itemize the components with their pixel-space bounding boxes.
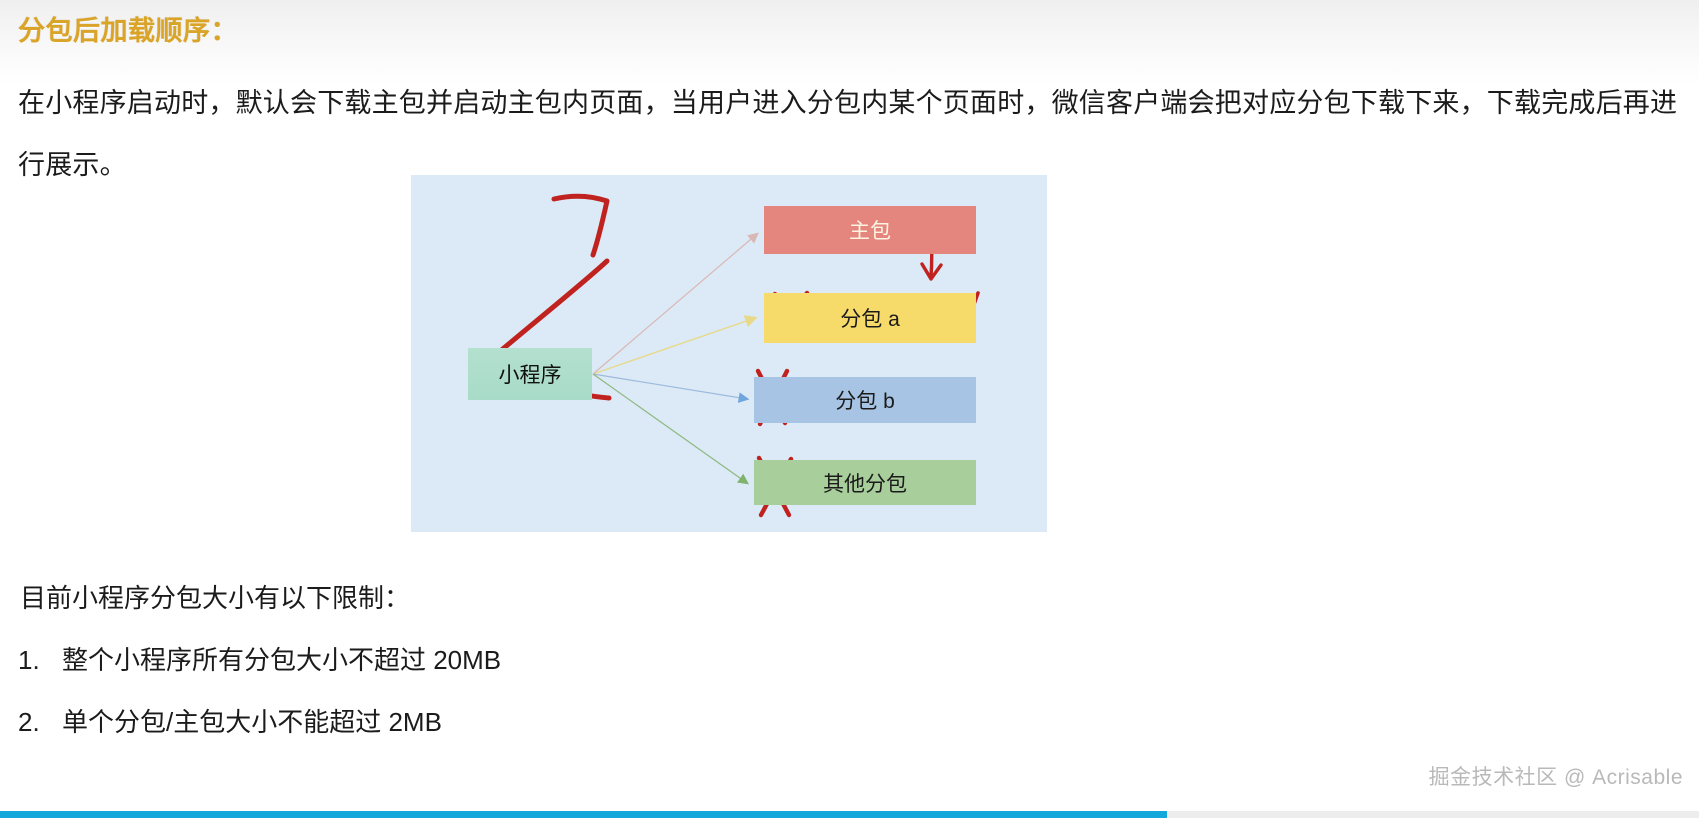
package-loading-diagram: 小程序 主包 分包 a 分包 b 其他分包 (411, 175, 1047, 532)
diagram-node-main-package-label: 主包 (849, 215, 891, 245)
connector-to-main-package (593, 234, 757, 374)
connector-to-other-packages (593, 374, 747, 483)
connector-to-sub-package-b (593, 374, 747, 399)
progress-bar-track[interactable] (0, 811, 1699, 818)
limit-item-text: 单个分包/主包大小不能超过 2MB (62, 707, 442, 737)
page-title: 分包后加载顺序： (18, 9, 238, 48)
limit-item-number: 2. (18, 707, 62, 738)
limit-list-item: 2.单个分包/主包大小不能超过 2MB (18, 702, 442, 739)
diagram-node-sub-package-a[interactable]: 分包 a (764, 293, 976, 343)
progress-bar-fill (0, 811, 1167, 818)
diagram-node-miniprogram[interactable]: 小程序 (468, 348, 592, 400)
watermark: 掘金技术社区 @ Acrisable (1429, 761, 1683, 791)
connector-to-sub-package-a (593, 318, 755, 374)
limit-item-text: 整个小程序所有分包大小不超过 20MB (62, 645, 501, 675)
diagram-node-other-packages-label: 其他分包 (823, 468, 907, 498)
limit-item-number: 1. (18, 645, 62, 676)
diagram-node-main-package[interactable]: 主包 (764, 206, 976, 254)
diagram-node-sub-package-b[interactable]: 分包 b (754, 377, 976, 423)
limit-list-item: 1.整个小程序所有分包大小不超过 20MB (18, 640, 501, 677)
diagram-node-miniprogram-label: 小程序 (499, 359, 562, 389)
slide-canvas: 分包后加载顺序： 在小程序启动时，默认会下载主包并启动主包内页面，当用户进入分包… (0, 0, 1699, 829)
ink-arrow-head-main-package (554, 196, 607, 255)
diagram-node-other-packages[interactable]: 其他分包 (754, 460, 976, 505)
diagram-node-sub-package-a-label: 分包 a (840, 303, 900, 333)
limits-intro-text: 目前小程序分包大小有以下限制： (20, 578, 410, 615)
diagram-node-sub-package-b-label: 分包 b (835, 385, 895, 415)
